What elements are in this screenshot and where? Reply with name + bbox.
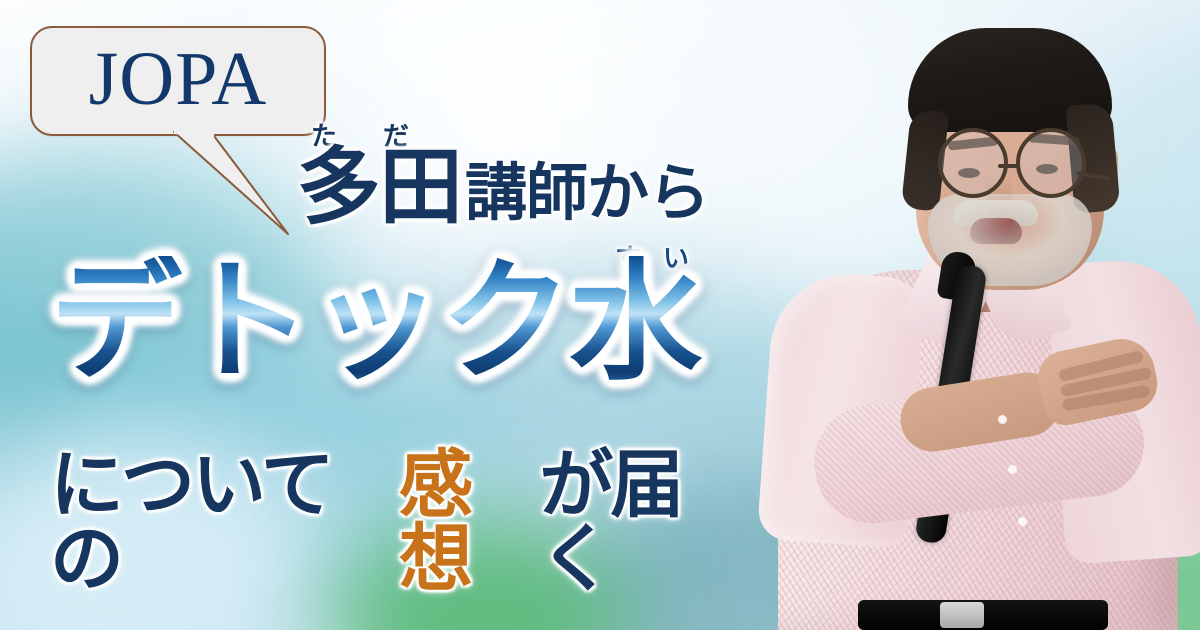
instructor-suffix: 講師から	[465, 162, 709, 224]
main-title-row: すい デトック水	[50, 256, 750, 388]
shirt-button	[1008, 465, 1017, 474]
shirt-button	[1018, 517, 1027, 526]
banner-stage: JOPA た だ 多田 講師から すい デトック水 についての 感想 が届く	[0, 0, 1200, 630]
glasses-bridge	[998, 164, 1020, 168]
headline-block: た だ 多田 講師から すい デトック水 についての 感想 が届く	[0, 0, 760, 630]
shirt-button	[998, 415, 1007, 424]
instructor-portrait	[740, 0, 1200, 630]
belt-buckle	[940, 602, 984, 628]
glasses-lens-right	[1016, 128, 1086, 198]
instructor-name-row: 多田 講師から	[297, 146, 757, 228]
subline-highlight: 感想	[399, 448, 539, 596]
main-title: デトック水	[50, 256, 750, 388]
instructor-line: た だ 多田 講師から	[297, 110, 757, 228]
subline-part-1: についての	[50, 448, 399, 596]
instructor-name: 多田	[297, 146, 461, 228]
subline: についての 感想 が届く	[50, 448, 750, 596]
glasses-lens-left	[938, 128, 1008, 198]
subline-part-2: が届く	[539, 448, 750, 596]
